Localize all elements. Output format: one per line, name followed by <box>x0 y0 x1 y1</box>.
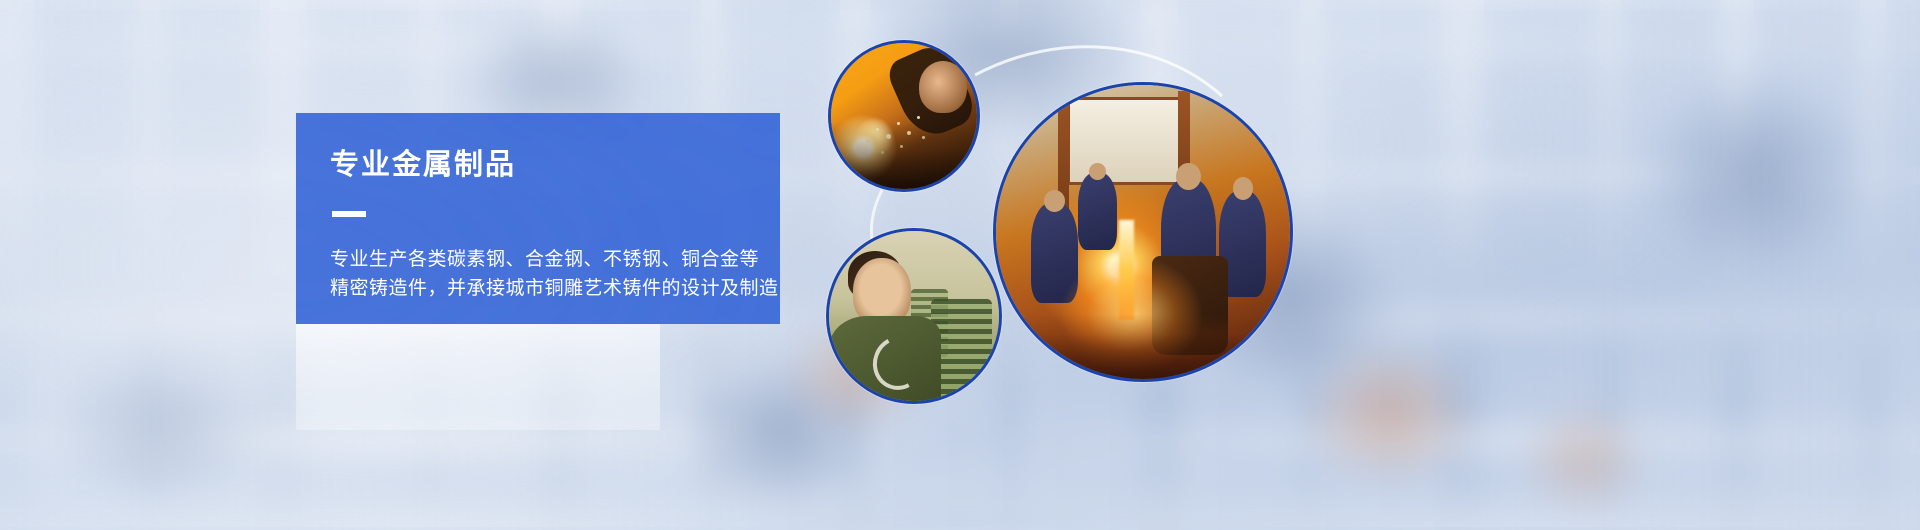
foundry-window <box>1067 97 1185 185</box>
panel-title: 专业金属制品 <box>330 149 746 181</box>
title-divider <box>332 211 366 217</box>
foundry-floor-shadow <box>996 314 1290 379</box>
foundry-worker-2 <box>1078 173 1116 249</box>
assembly-photo-medallion <box>826 228 1002 404</box>
foundry-photo <box>996 85 1290 379</box>
assembly-photo <box>829 231 999 401</box>
welding-photo <box>831 43 977 189</box>
molten-metal-pour <box>1119 220 1134 320</box>
promo-banner: 专业金属制品 专业生产各类碳素钢、合金钢、不锈钢、铜合金等 精密铸造件，并承接城… <box>0 0 1920 530</box>
panel-description: 专业生产各类碳素钢、合金钢、不锈钢、铜合金等 精密铸造件，并承接城市铜雕艺术铸件… <box>330 245 746 304</box>
headline-panel: 专业金属制品 专业生产各类碳素钢、合金钢、不锈钢、铜合金等 精密铸造件，并承接城… <box>296 113 780 324</box>
description-line-1: 专业生产各类碳素钢、合金钢、不锈钢、铜合金等 <box>330 245 746 274</box>
background-white-slab <box>296 324 660 430</box>
foundry-photo-medallion <box>993 82 1293 382</box>
description-line-2: 精密铸造件，并承接城市铜雕艺术铸件的设计及制造 <box>330 274 746 303</box>
welding-shadow <box>831 122 977 189</box>
welding-photo-medallion <box>828 40 980 192</box>
